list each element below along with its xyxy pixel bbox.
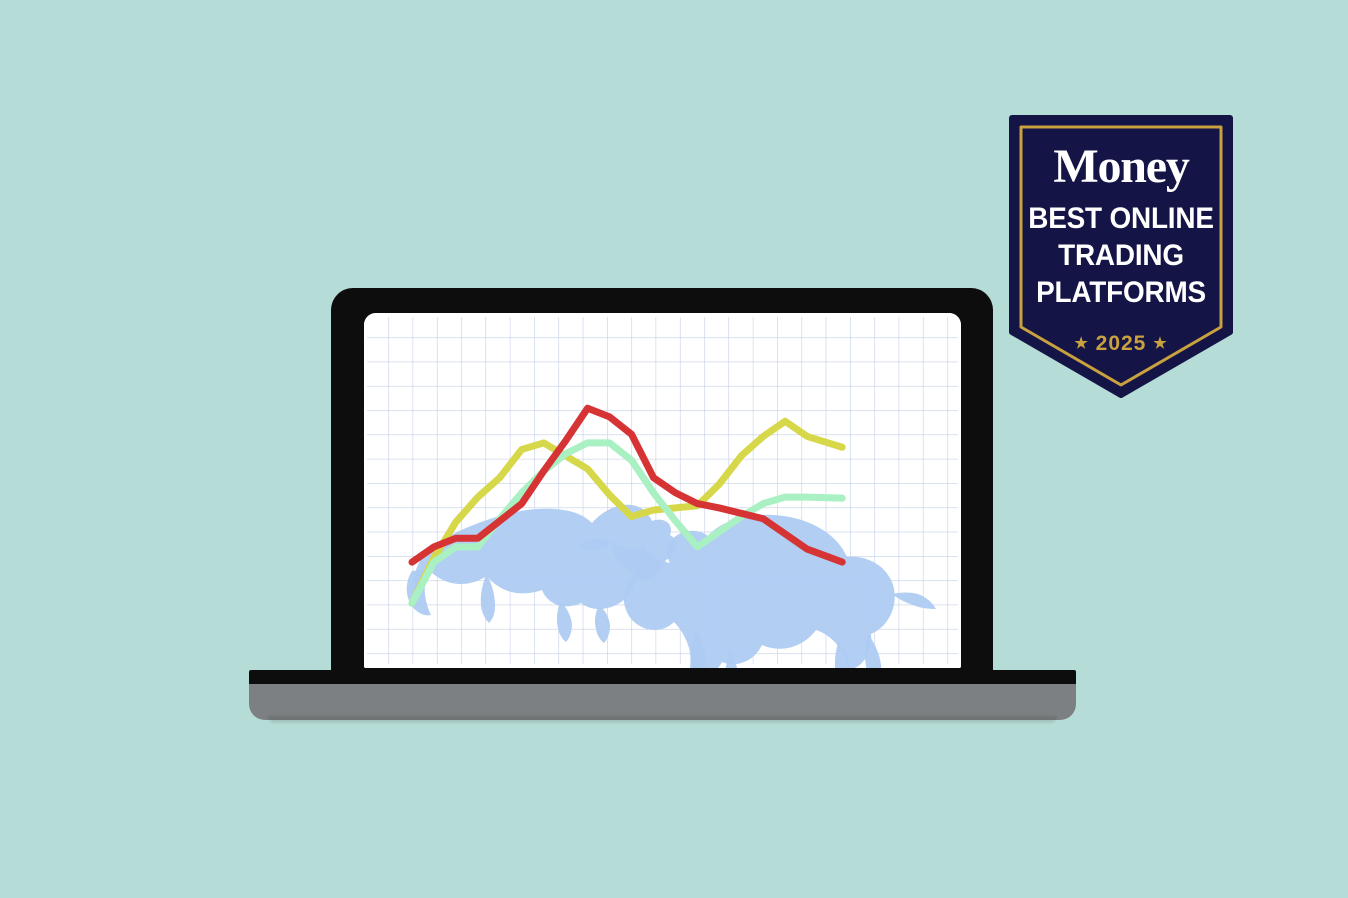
laptop-base bbox=[249, 684, 1076, 720]
money-award-badge: Money BEST ONLINE TRADING PLATFORMS ★ 20… bbox=[1008, 114, 1234, 399]
badge-background bbox=[1012, 118, 1230, 395]
laptop-base-shadow bbox=[268, 716, 1057, 723]
laptop-hinge bbox=[249, 670, 1076, 685]
chart-svg bbox=[364, 313, 961, 668]
laptop-screen bbox=[364, 313, 961, 668]
illustration-canvas: Money BEST ONLINE TRADING PLATFORMS ★ 20… bbox=[0, 0, 1348, 898]
badge-shield-shape bbox=[1008, 114, 1234, 399]
stock-chart bbox=[364, 313, 961, 668]
